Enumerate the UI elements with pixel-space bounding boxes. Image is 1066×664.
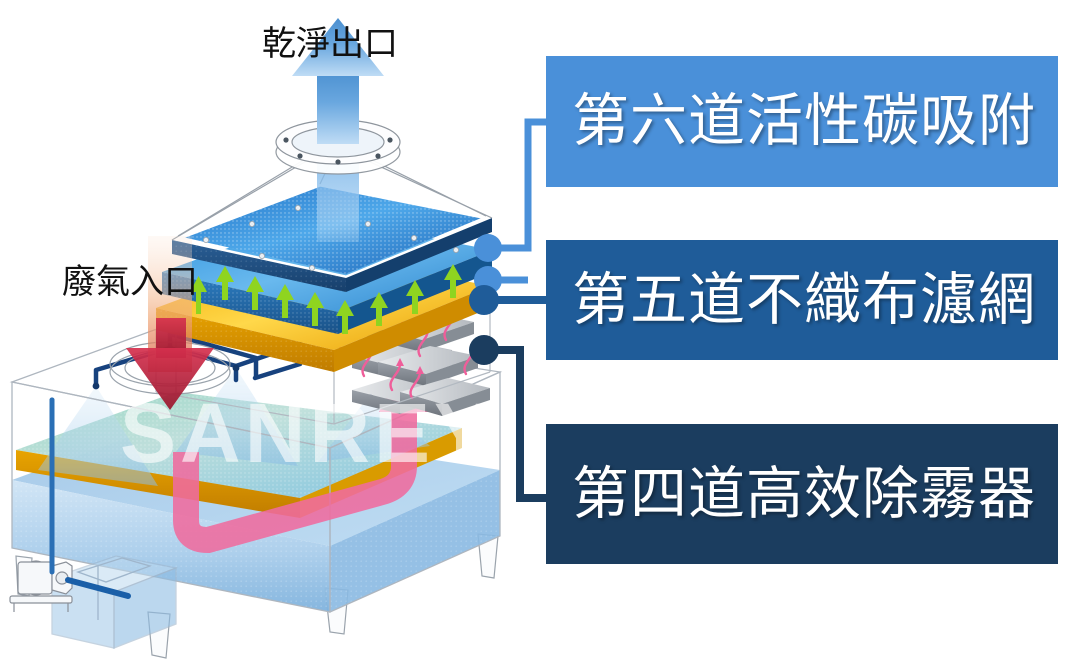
watermark-sanrey: SANREY <box>120 386 494 480</box>
callout-stage-4-mist-eliminator[interactable]: 第四道高效除霧器 <box>546 424 1058 564</box>
inlet-label: 廢氣入口 <box>62 254 198 303</box>
callout-stage-5-label: 第五道不織布濾網 <box>572 272 1036 329</box>
callout-stage-5-nonwoven-filter[interactable]: 第五道不織布濾網 <box>546 240 1058 360</box>
callout-stage-4-label: 第四道高效除霧器 <box>572 466 1036 523</box>
callout-stage-6-activated-carbon[interactable]: 第六道活性碳吸附 <box>546 56 1058 187</box>
connector-dot-carbon-upper <box>474 234 502 262</box>
callout-stage-6-label: 第六道活性碳吸附 <box>572 93 1036 150</box>
diagram-canvas: SANREY 乾淨出口 廢氣入口 第六道活性碳吸附 第五道不織布濾網 第四道高效… <box>0 0 1066 664</box>
connector-dot-demister <box>469 335 499 365</box>
connector-carbon <box>474 122 546 294</box>
connector-fabric <box>469 285 546 315</box>
connector-dot-fabric <box>469 285 499 315</box>
outlet-label: 乾淨出口 <box>262 16 398 65</box>
